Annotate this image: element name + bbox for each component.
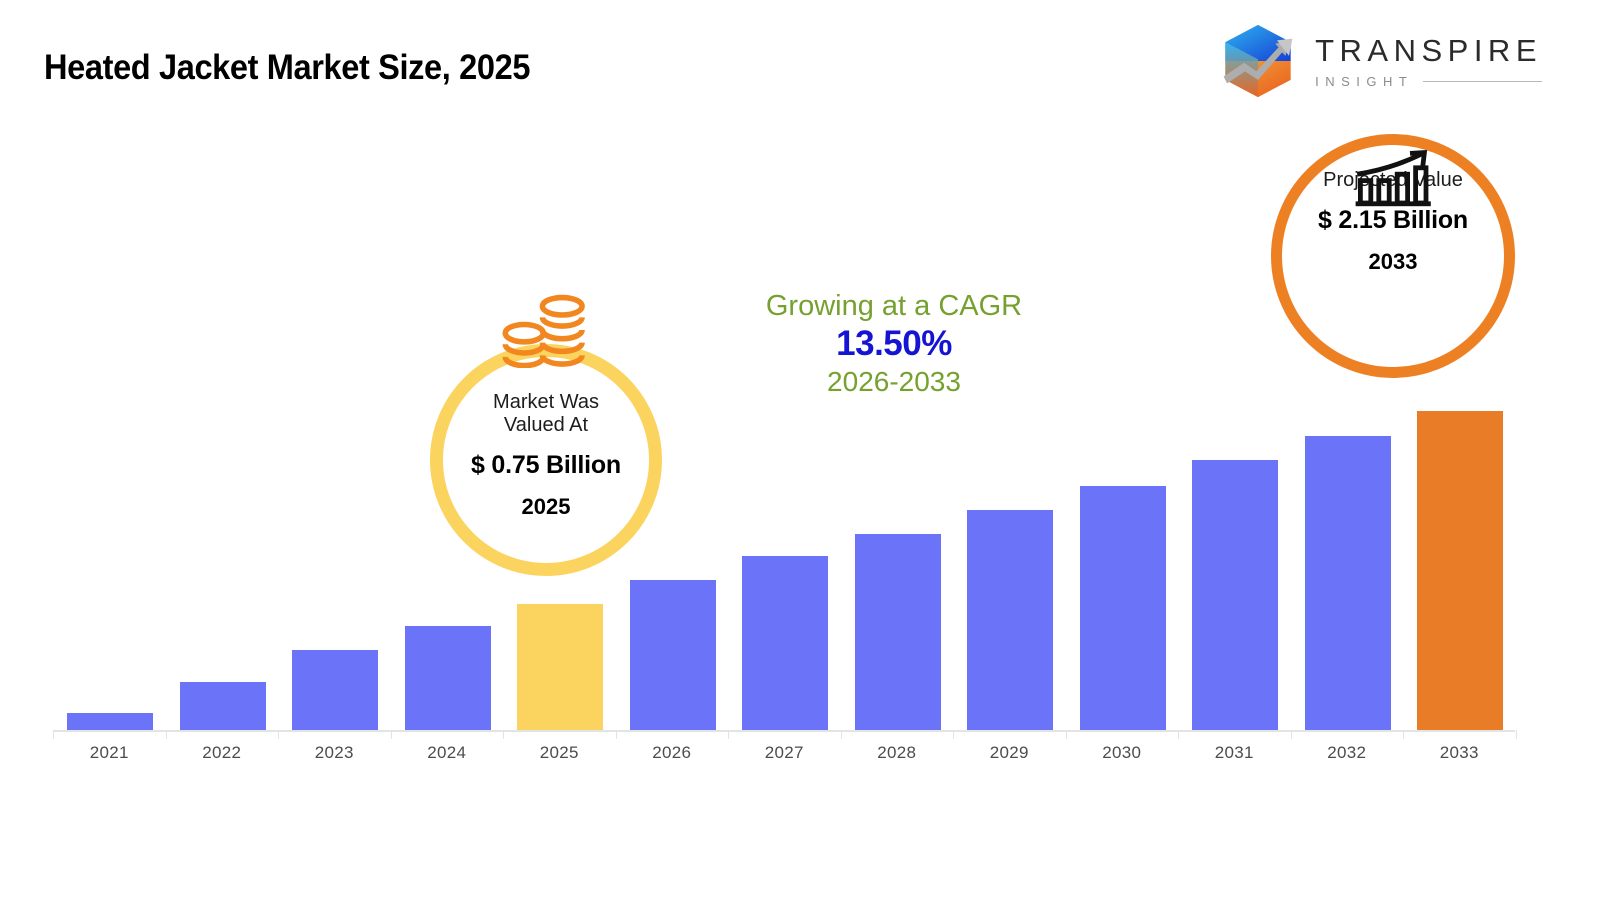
x-axis-label-2023: 2023 (276, 743, 392, 763)
cagr-value: 13.50% (748, 322, 1040, 367)
x-axis-tick (1403, 730, 1404, 739)
current-badge-caption-line2: Valued At (504, 414, 588, 436)
bar-2023[interactable] (292, 650, 378, 730)
cagr-period: 2026-2033 (748, 367, 1040, 398)
x-axis-label-2021: 2021 (51, 743, 167, 763)
current-badge-year: 2025 (522, 494, 571, 520)
x-axis-label-2025: 2025 (501, 743, 617, 763)
current-value-badge: Market Was Valued At $ 0.75 Billion 2025 (430, 344, 662, 576)
bar-2025[interactable] (517, 604, 603, 730)
bar-2029[interactable] (967, 510, 1053, 730)
x-axis-tick (166, 730, 167, 739)
x-axis-tick (1178, 730, 1179, 739)
projected-badge-year: 2033 (1369, 249, 1418, 275)
current-badge-caption-line1: Market Was (493, 391, 599, 413)
x-axis-tick (278, 730, 279, 739)
bar-2031[interactable] (1192, 460, 1278, 730)
cagr-label: Growing at a CAGR (748, 290, 1040, 322)
x-axis-tick (391, 730, 392, 739)
chart-page: Heated Jacket Market Size, 2025 (0, 0, 1600, 900)
bar-2026[interactable] (630, 580, 716, 730)
bar-2030[interactable] (1080, 486, 1166, 730)
bar-2032[interactable] (1305, 436, 1391, 730)
x-axis-label-2027: 2027 (726, 743, 842, 763)
bar-2028[interactable] (855, 534, 941, 730)
bar-2021[interactable] (67, 713, 153, 730)
coins-stack-icon (500, 292, 596, 368)
cagr-callout: Growing at a CAGR 13.50% 2026-2033 (748, 290, 1040, 398)
x-axis-tick (1066, 730, 1067, 739)
x-axis-label-2028: 2028 (839, 743, 955, 763)
x-axis-tick (841, 730, 842, 739)
x-axis-label-2031: 2031 (1176, 743, 1292, 763)
bar-2022[interactable] (180, 682, 266, 730)
x-axis-label-2033: 2033 (1401, 743, 1517, 763)
x-axis-line (53, 730, 1515, 732)
x-axis-tick (503, 730, 504, 739)
bar-2027[interactable] (742, 556, 828, 730)
x-axis-label-2030: 2030 (1064, 743, 1180, 763)
projected-badge-value: $ 2.15 Billion (1318, 206, 1468, 235)
bar-chart: 2021202220232024202520262027202820292030… (0, 0, 1600, 900)
x-axis-tick (616, 730, 617, 739)
x-axis-label-2024: 2024 (389, 743, 505, 763)
x-axis-tick (1516, 730, 1517, 739)
current-badge-caption: Market Was Valued At (493, 391, 599, 437)
bar-2024[interactable] (405, 626, 491, 730)
x-axis-label-2026: 2026 (614, 743, 730, 763)
growth-bar-arrow-icon (1354, 150, 1434, 208)
x-axis-label-2029: 2029 (951, 743, 1067, 763)
x-axis-label-2022: 2022 (164, 743, 280, 763)
x-axis-tick (53, 730, 54, 739)
x-axis-tick (1291, 730, 1292, 739)
current-badge-value: $ 0.75 Billion (471, 451, 621, 480)
bar-2033[interactable] (1417, 411, 1503, 730)
x-axis-tick (953, 730, 954, 739)
x-axis-tick (728, 730, 729, 739)
x-axis-label-2032: 2032 (1289, 743, 1405, 763)
